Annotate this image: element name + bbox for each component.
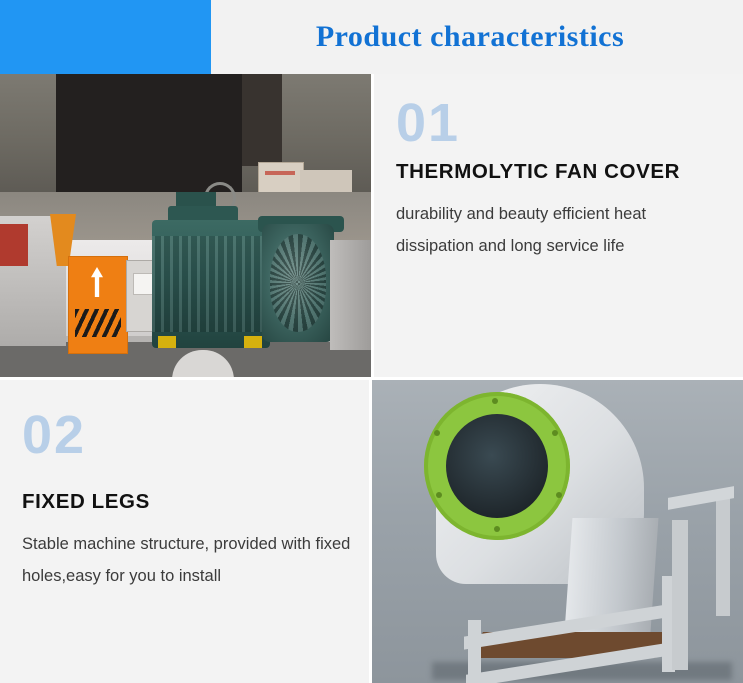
- feature-1-text-panel: 01 THERMOLYTIC FAN COVER durability and …: [374, 74, 743, 377]
- ring-bolt: [494, 526, 500, 532]
- red-machine-part: [0, 224, 28, 266]
- feature-row-2: 02 FIXED LEGS Stable machine structure, …: [0, 380, 743, 683]
- frame-rear-post: [716, 496, 730, 616]
- feature-2-image: [372, 380, 743, 683]
- page-header: Product characteristics: [0, 0, 743, 74]
- feature-2-description: Stable machine structure, provided with …: [22, 528, 352, 592]
- ring-bolt: [552, 430, 558, 436]
- up-arrow-icon: [91, 267, 103, 297]
- frame-right-post: [672, 520, 688, 670]
- features-grid: 01 THERMOLYTIC FAN COVER durability and …: [0, 74, 743, 683]
- feature-1-image: [0, 74, 371, 377]
- electric-motor: [152, 220, 270, 348]
- dark-backdrop-panel-secondary: [242, 74, 282, 166]
- right-support-post: [330, 240, 371, 350]
- feature-1-title: THERMOLYTIC FAN COVER: [396, 160, 725, 184]
- feature-1-description: durability and beauty efficient heat dis…: [396, 198, 725, 262]
- feature-1-number: 01: [396, 96, 725, 150]
- feature-row-1: 01 THERMOLYTIC FAN COVER durability and …: [0, 74, 743, 377]
- header-title-container: Product characteristics: [211, 0, 743, 74]
- ring-bolt: [556, 492, 562, 498]
- ring-bolt: [436, 492, 442, 498]
- thermolytic-fan-cover: [262, 224, 334, 342]
- ring-bolt: [492, 398, 498, 404]
- orange-control-box: [68, 256, 128, 354]
- motor-cooling-fins: [152, 236, 270, 332]
- ring-bolt: [434, 430, 440, 436]
- fixed-leg: [468, 620, 481, 682]
- feature-2-title: FIXED LEGS: [22, 490, 355, 514]
- dark-backdrop-panel: [56, 74, 242, 194]
- product-characteristics-page: Product characteristics: [0, 0, 743, 683]
- hazard-stripes: [75, 309, 121, 337]
- page-title: Product characteristics: [316, 20, 624, 54]
- feature-2-text-panel: 02 FIXED LEGS Stable machine structure, …: [0, 380, 369, 683]
- green-inlet-ring: [424, 392, 570, 540]
- header-accent-swatch: [0, 0, 211, 74]
- feature-2-number: 02: [22, 408, 355, 462]
- fan-grill: [270, 234, 326, 332]
- motor-foot: [244, 336, 262, 348]
- inlet-opening: [446, 414, 548, 518]
- motor-foot: [158, 336, 176, 348]
